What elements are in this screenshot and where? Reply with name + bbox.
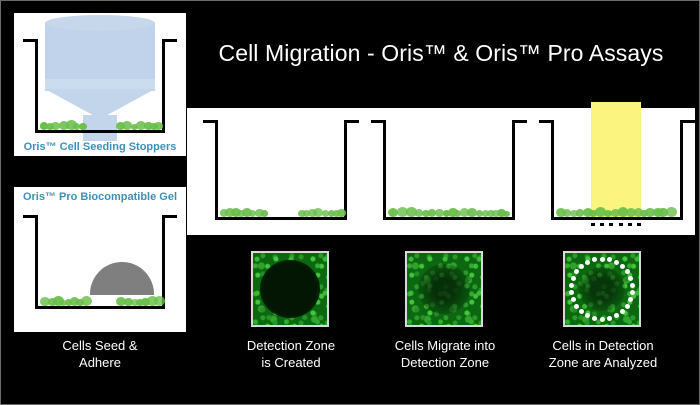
- micrograph-zone-analyzed: [563, 251, 641, 327]
- ring-dot: [569, 283, 574, 288]
- well-floor: [215, 217, 347, 220]
- caption-cells-seed-adhere: Cells Seed & Adhere: [14, 337, 186, 371]
- ring-dot: [592, 316, 597, 321]
- ring-dot: [614, 313, 619, 318]
- micrograph-cells-migrated: [405, 251, 483, 327]
- well-wall-left: [215, 120, 218, 220]
- ring-dot: [574, 269, 579, 274]
- panel-cell-seeding-stoppers: Oris™ Cell Seeding Stoppers: [14, 13, 186, 156]
- well-lip-left: [539, 120, 551, 123]
- ring-dot: [628, 276, 633, 281]
- caption-cells-analyzed: Cells in Detection Zone are Analyzed: [525, 337, 681, 371]
- analysis-ring-annotation: [571, 259, 633, 319]
- cell-row-full: [556, 206, 678, 217]
- biocompatible-gel-dome: [90, 262, 154, 295]
- panel-biocompatible-gel: Oris™ Pro Biocompatible Gel: [14, 187, 186, 332]
- ring-dot: [585, 260, 590, 265]
- well-wall-left: [35, 215, 38, 309]
- cell-dot: [79, 123, 87, 130]
- well-floor: [35, 130, 165, 133]
- caption-cells-migrate: Cells Migrate into Detection Zone: [369, 337, 521, 371]
- well-lip-right: [165, 215, 177, 218]
- ring-dot: [579, 264, 584, 269]
- ring-dot: [571, 297, 576, 302]
- well-lip-right: [683, 120, 695, 123]
- detection-zone-void: [418, 264, 470, 314]
- cell-dot: [503, 211, 510, 217]
- cell-row-right: [298, 206, 342, 217]
- well-wall-right: [162, 215, 165, 309]
- well-lip-left: [371, 120, 383, 123]
- figure-title: Cell Migration - Oris™ & Oris™ Pro Assay…: [187, 17, 695, 89]
- ring-dot: [620, 309, 625, 314]
- ring-dot: [571, 276, 576, 281]
- ring-dot: [585, 313, 590, 318]
- ring-dot: [569, 290, 574, 295]
- cell-dot: [81, 296, 92, 306]
- well-lip-right: [347, 120, 359, 123]
- ring-dot: [614, 260, 619, 265]
- panel-label-stoppers: Oris™ Cell Seeding Stoppers: [14, 141, 186, 153]
- well-cells-migrated: [383, 120, 515, 220]
- well-wall-right: [680, 120, 683, 220]
- ring-dot: [620, 264, 625, 269]
- detection-zone-dashes: [591, 223, 641, 226]
- cell-dot: [154, 296, 165, 306]
- cell-row-right: [116, 295, 160, 306]
- well-lip-right: [515, 120, 527, 123]
- well-wall-left: [35, 39, 38, 133]
- cell-dot: [337, 209, 345, 217]
- well-wall-left: [551, 120, 554, 220]
- cell-row-left: [40, 119, 84, 130]
- ring-dot: [607, 316, 612, 321]
- well-cross-section-stoppers: [35, 39, 165, 133]
- detection-zone-highlight: [591, 102, 641, 217]
- well-wall-right: [162, 39, 165, 133]
- ring-dot: [579, 309, 584, 314]
- ring-dot: [574, 304, 579, 309]
- ring-dot: [592, 257, 597, 262]
- well-floor: [551, 217, 683, 220]
- well-floor: [35, 306, 165, 309]
- well-detection-zone-created: [215, 120, 347, 220]
- stopper-top-ellipse: [45, 15, 155, 31]
- cell-row-left: [220, 206, 266, 217]
- figure-root: Cell Migration - Oris™ & Oris™ Pro Assay…: [0, 0, 700, 405]
- ring-dot: [625, 269, 630, 274]
- well-floor: [383, 217, 515, 220]
- well-cross-section-gel: [35, 215, 165, 309]
- well-lip-right: [165, 39, 177, 42]
- ring-dot: [607, 257, 612, 262]
- well-series-band: [187, 108, 695, 235]
- cell-dot: [666, 207, 676, 217]
- well-wall-left: [383, 120, 386, 220]
- detection-zone-void: [260, 260, 320, 318]
- well-detection-zone-analyzed: [551, 120, 683, 220]
- cell-row-left: [40, 295, 92, 306]
- ring-dot: [628, 297, 633, 302]
- panel-label-gel: Oris™ Pro Biocompatible Gel: [14, 191, 186, 203]
- well-lip-left: [23, 39, 35, 42]
- ring-dot: [625, 304, 630, 309]
- caption-detection-zone-created: Detection Zone is Created: [216, 337, 366, 371]
- well-lip-left: [23, 215, 35, 218]
- cell-dot: [261, 210, 269, 217]
- cell-row-right: [116, 119, 160, 130]
- micrograph-detection-zone-created: [251, 251, 329, 327]
- well-wall-right: [344, 120, 347, 220]
- ring-dot: [600, 257, 605, 262]
- well-wall-right: [512, 120, 515, 220]
- cell-row-full: [388, 206, 510, 217]
- well-lip-left: [203, 120, 215, 123]
- ring-dot: [600, 317, 605, 322]
- cell-dot: [154, 122, 162, 130]
